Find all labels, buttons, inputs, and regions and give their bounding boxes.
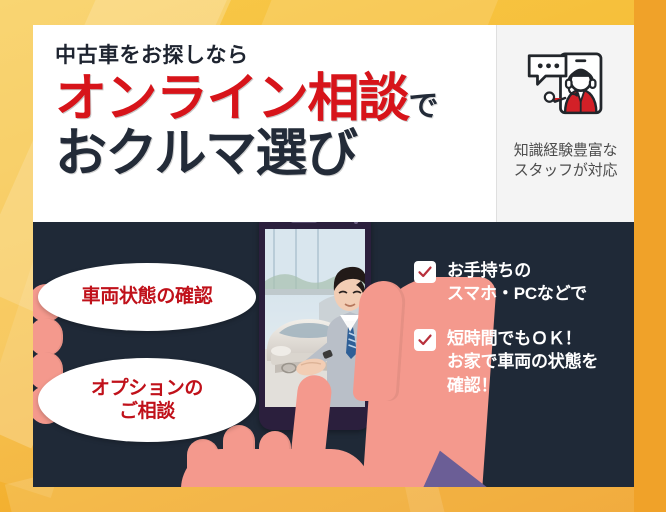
headline-primary-main: オンライン相談 (55, 70, 409, 128)
headline-secondary: おクルマ選び (55, 130, 496, 180)
checklist-item[interactable]: お手持ちの スマホ・PCなどで (414, 259, 629, 306)
staff-headset-video-call-icon (520, 41, 612, 133)
check-icon (414, 329, 436, 351)
feature-pill-label: 車両状態の確認 (82, 285, 213, 308)
staff-caption-line-1: 知識経験豊富な (514, 141, 618, 161)
header-card: 中古車をお探しなら オンライン相談で おクルマ選び (33, 25, 634, 222)
staff-panel: 知識経験豊富な スタッフが対応 (496, 25, 634, 222)
checklist-item-label: 短時間でもＯＫ！ お家で車両の状態を 確認！ (447, 327, 598, 397)
feature-pill-vehicle-condition[interactable]: 車両状態の確認 (38, 263, 256, 331)
staff-caption: 知識経験豊富な スタッフが対応 (514, 141, 618, 182)
palm (181, 449, 371, 487)
checklist: お手持ちの スマホ・PCなどで 短時間でもＯＫ！ お家で車両の状態を 確認！ (414, 259, 629, 418)
finger (33, 318, 63, 356)
feature-pill-label: オプションの ご相談 (91, 377, 203, 423)
phone-speaker (291, 222, 317, 223)
checklist-item-label: お手持ちの スマホ・PCなどで (447, 259, 587, 306)
check-glyph (417, 332, 433, 348)
check-icon (414, 261, 436, 283)
phone-camera-dot (354, 222, 358, 224)
headline-area: 中古車をお探しなら オンライン相談で おクルマ選び (33, 25, 496, 222)
sleeve (401, 417, 559, 487)
headline-primary: オンライン相談で (55, 75, 496, 125)
dark-feature-panel: 車両状態の確認 オプションの ご相談 お手持ちの スマホ・PCなどで 短時間でも… (33, 222, 634, 487)
feature-pill-option-consult[interactable]: オプションの ご相談 (38, 358, 256, 442)
headline-primary-tail: で (409, 90, 439, 123)
staff-caption-line-2: スタッフが対応 (514, 161, 618, 181)
background-right-band (634, 0, 666, 512)
kicker-text: 中古車をお探しなら (55, 45, 496, 66)
hand-thumb (352, 281, 406, 401)
check-glyph (417, 264, 433, 280)
checklist-item[interactable]: 短時間でもＯＫ！ お家で車両の状態を 確認！ (414, 327, 629, 397)
